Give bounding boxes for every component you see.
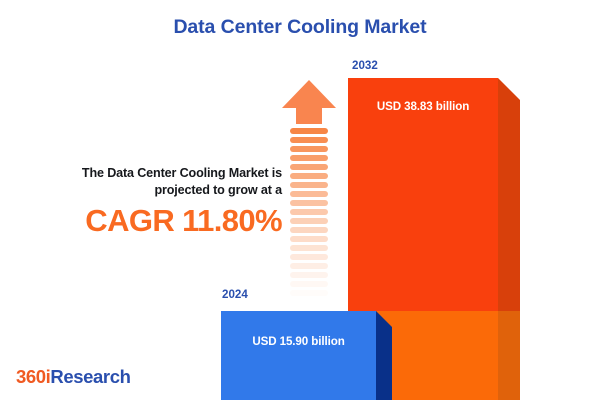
bar-2024-side-face	[376, 311, 392, 400]
logo-prefix: 360i	[16, 366, 50, 387]
arrow-bar-segment	[290, 146, 328, 152]
page-title: Data Center Cooling Market	[0, 16, 600, 39]
arrow-bar-segment	[290, 272, 328, 278]
logo-suffix: Research	[50, 366, 130, 387]
arrow-gradient-bars	[290, 128, 328, 306]
arrow-bar-segment	[290, 236, 328, 242]
arrow-bar-segment	[290, 182, 328, 188]
arrow-bar-segment	[290, 254, 328, 260]
upward-growth-arrow-icon	[281, 78, 337, 306]
bar-label-2024: 2024	[222, 288, 248, 301]
bar-2024-value-label: USD 15.90 billion	[221, 335, 376, 348]
arrow-bar-segment	[290, 227, 328, 233]
arrow-bar-segment	[290, 200, 328, 206]
brand-logo[interactable]: 360iResearch	[16, 366, 131, 388]
arrow-bar-segment	[290, 299, 328, 305]
cagr-value: CAGR 11.80%	[18, 205, 282, 238]
arrow-bar-segment	[290, 191, 328, 197]
arrow-bar-segment	[290, 218, 328, 224]
arrow-bar-segment	[290, 263, 328, 269]
cagr-statement-block: The Data Center Cooling Market is projec…	[18, 165, 282, 238]
bar-2024-front-face	[221, 311, 376, 400]
arrow-bar-segment	[290, 209, 328, 215]
arrow-bar-segment	[290, 128, 328, 134]
arrow-bar-segment	[290, 245, 328, 251]
arrow-bar-segment	[290, 290, 328, 296]
bar-2024: USD 15.90 billion	[221, 311, 392, 400]
arrow-bar-segment	[290, 155, 328, 161]
cagr-statement-line-2: projected to grow at a	[154, 183, 282, 197]
cagr-statement-text: The Data Center Cooling Market is projec…	[18, 165, 282, 199]
arrow-bar-segment	[290, 164, 328, 170]
market-infographic: Data Center Cooling Market The Data Cent…	[0, 0, 600, 400]
arrow-bar-segment	[290, 137, 328, 143]
bar-2032-value-label: USD 38.83 billion	[348, 100, 498, 113]
bar-2032-side-face-lower	[498, 311, 520, 400]
bar-label-2032: 2032	[352, 59, 378, 72]
arrow-bar-segment	[290, 281, 328, 287]
arrow-head-icon	[281, 78, 337, 126]
cagr-statement-line-1: The Data Center Cooling Market is	[82, 166, 282, 180]
bar-2032-side-face-upper	[498, 78, 520, 311]
arrow-bar-segment	[290, 173, 328, 179]
